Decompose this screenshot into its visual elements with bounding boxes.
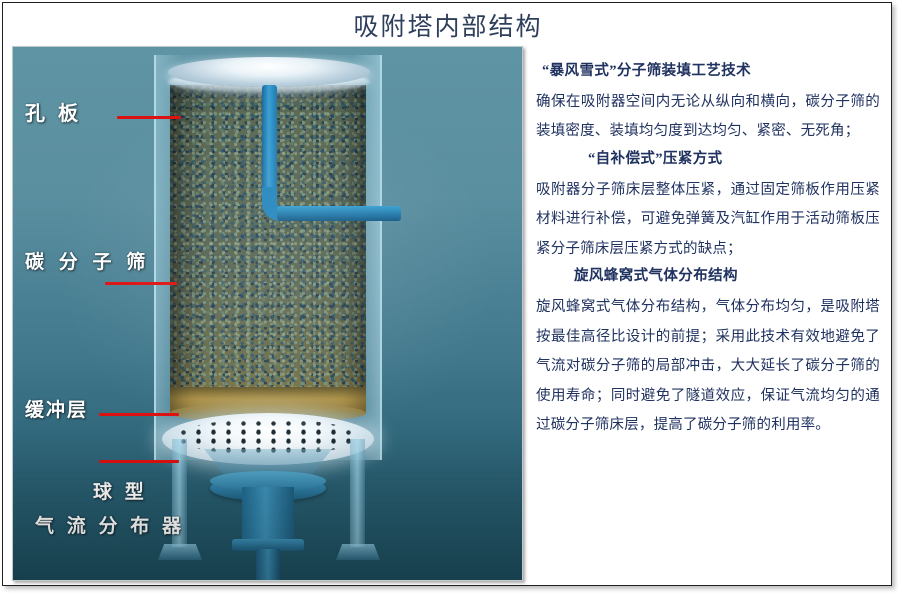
block-3-body: 旋风蜂窝式气体分布结构，气体分布均匀，是吸附塔按最佳高径比设计的前提；采用此技术… (536, 293, 880, 441)
label-gas-distributor-line1: 球 型 (93, 477, 148, 504)
label-orifice-plate: 孔 板 (25, 97, 82, 126)
support-foot-right (336, 544, 380, 560)
description-block-2: “自补偿式”压紧方式 吸附器分子筛床层整体压紧，通过固定筛板作用压紧材料进行补偿… (536, 149, 880, 264)
support-foot-left (158, 544, 202, 560)
block-3-heading: 旋风蜂窝式气体分布结构 (536, 266, 880, 288)
document-frame: 吸附塔内部结构 (2, 2, 892, 586)
description-block-1: “暴风雪式”分子筛装填工艺技术 确保在吸附器空间内无论从纵向和横向，碳分子筛的装… (536, 61, 880, 147)
block-2-heading: “自补偿式”压紧方式 (536, 149, 880, 171)
adsorber-tower-photo: 孔 板 碳 分 子 筛 缓冲层 球 型 气 流 分 布 器 (12, 46, 523, 581)
distributor-stem (242, 487, 294, 545)
support-leg-right (350, 439, 365, 547)
description-block-3: 旋风蜂窝式气体分布结构 旋风蜂窝式气体分布结构，气体分布均匀，是吸附塔按最佳高径… (536, 266, 880, 441)
label-carbon-molecular-sieve: 碳 分 子 筛 (25, 247, 150, 274)
label-buffer-layer: 缓冲层 (25, 395, 88, 422)
block-1-heading: “暴风雪式”分子筛装填工艺技术 (536, 61, 880, 83)
orifice-plate-disk (168, 57, 370, 87)
adsorber-vessel-illustration (146, 47, 391, 581)
description-column: “暴风雪式”分子筛装填工艺技术 确保在吸附器空间内无论从纵向和横向，碳分子筛的装… (536, 61, 880, 443)
label-gas-distributor-line2: 气 流 分 布 器 (35, 511, 185, 538)
block-2-body: 吸附器分子筛床层整体压紧，通过固定筛板作用压紧材料进行补偿，可避免弹簧及汽缸作用… (536, 176, 880, 265)
leader-line-orifice-plate (117, 116, 181, 119)
block-1-body: 确保在吸附器空间内无论从纵向和横向，碳分子筛的装填密度、装填均匀度到达均匀、紧密… (536, 88, 880, 147)
distributor-outlet-nozzle (256, 549, 280, 581)
inlet-pipe-horizontal (277, 206, 401, 221)
page-title: 吸附塔内部结构 (3, 7, 893, 43)
leader-line-carbon-molecular-sieve (105, 282, 177, 285)
leader-line-gas-distributor (99, 460, 179, 463)
leader-line-buffer-layer (99, 413, 179, 416)
perforation-holes-inner (184, 423, 352, 451)
